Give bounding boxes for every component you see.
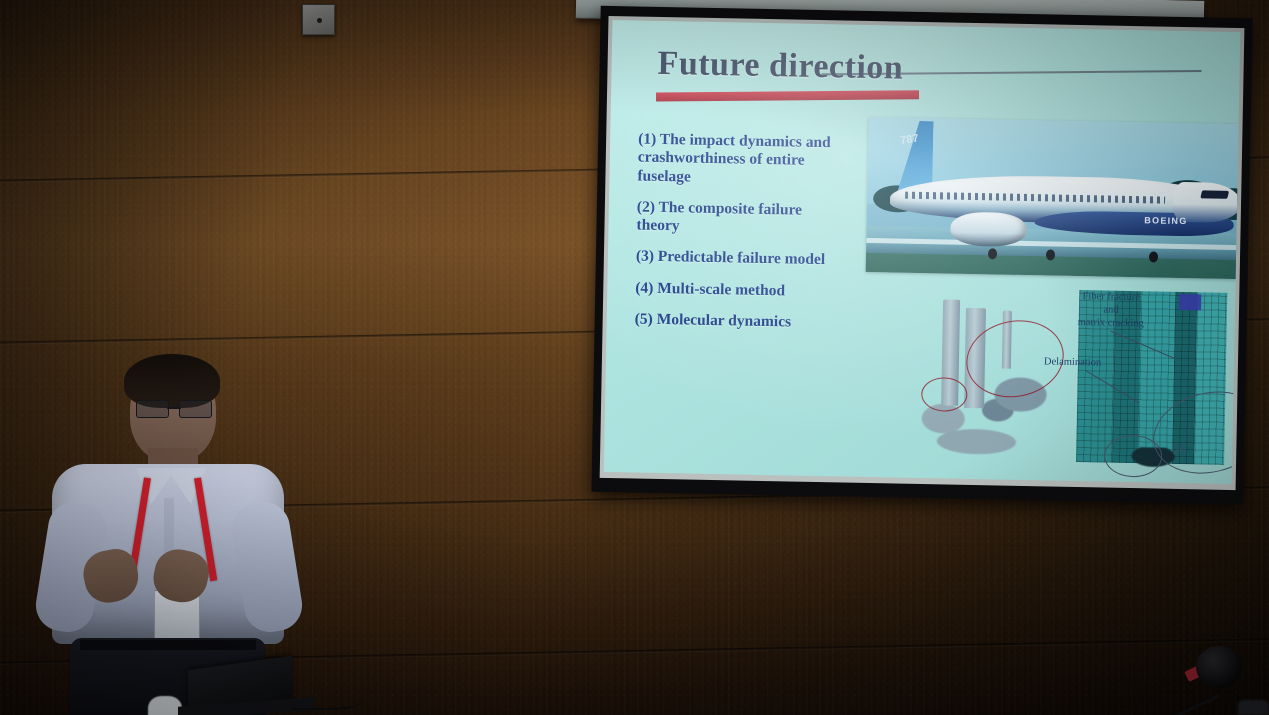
- glasses-icon: [136, 400, 212, 416]
- foreground-object: [1238, 700, 1269, 715]
- bullet-item: (5) Molecular dynamics: [635, 310, 847, 332]
- bullet-item: (2) The composite failure theory: [636, 198, 849, 239]
- bullet-item: (4) Multi-scale method: [635, 279, 847, 301]
- landing-gear: [1149, 251, 1158, 262]
- annotation-fiber-fracture: Fiber fracture and matrix cracking: [1059, 290, 1164, 331]
- glasses-lens: [179, 400, 212, 418]
- glasses-lens: [136, 400, 169, 418]
- cockpit-window: [1201, 190, 1230, 198]
- conference-room-photo: Future direction (1) The impact dynamics…: [0, 0, 1269, 715]
- wall-speaker-plate: [302, 4, 335, 35]
- aircraft-photo: 787 BOEING: [866, 117, 1241, 279]
- tail-model-text: 787: [900, 132, 920, 146]
- landing-gear: [1045, 249, 1054, 260]
- bullet-item: (3) Predictable failure model: [636, 248, 848, 270]
- aircraft-engine: [950, 212, 1027, 248]
- title-accent-rule: [656, 90, 919, 101]
- presenter-belt: [80, 640, 256, 650]
- bullet-item: (1) The impact dynamics and crashworthin…: [637, 131, 850, 190]
- slide-title: Future direction: [657, 45, 903, 88]
- mesh-impactor: [1179, 294, 1201, 310]
- microphone-windscreen: [1196, 646, 1242, 688]
- slide-number: 56: [1172, 443, 1186, 459]
- boeing-wordmark: BOEING: [1144, 215, 1187, 226]
- foreground-white-object: [148, 696, 182, 715]
- presentation-slide: Future direction (1) The impact dynamics…: [604, 20, 1241, 484]
- annotation-delamination: Delamination: [1044, 355, 1130, 370]
- laptop-cable: [292, 678, 364, 710]
- annotation-line: matrix cracking: [1059, 316, 1163, 331]
- slide-bullet-list: (1) The impact dynamics and crashworthin…: [634, 131, 850, 346]
- projection-screen: Future direction (1) The impact dynamics…: [591, 6, 1252, 504]
- landing-gear: [988, 248, 997, 259]
